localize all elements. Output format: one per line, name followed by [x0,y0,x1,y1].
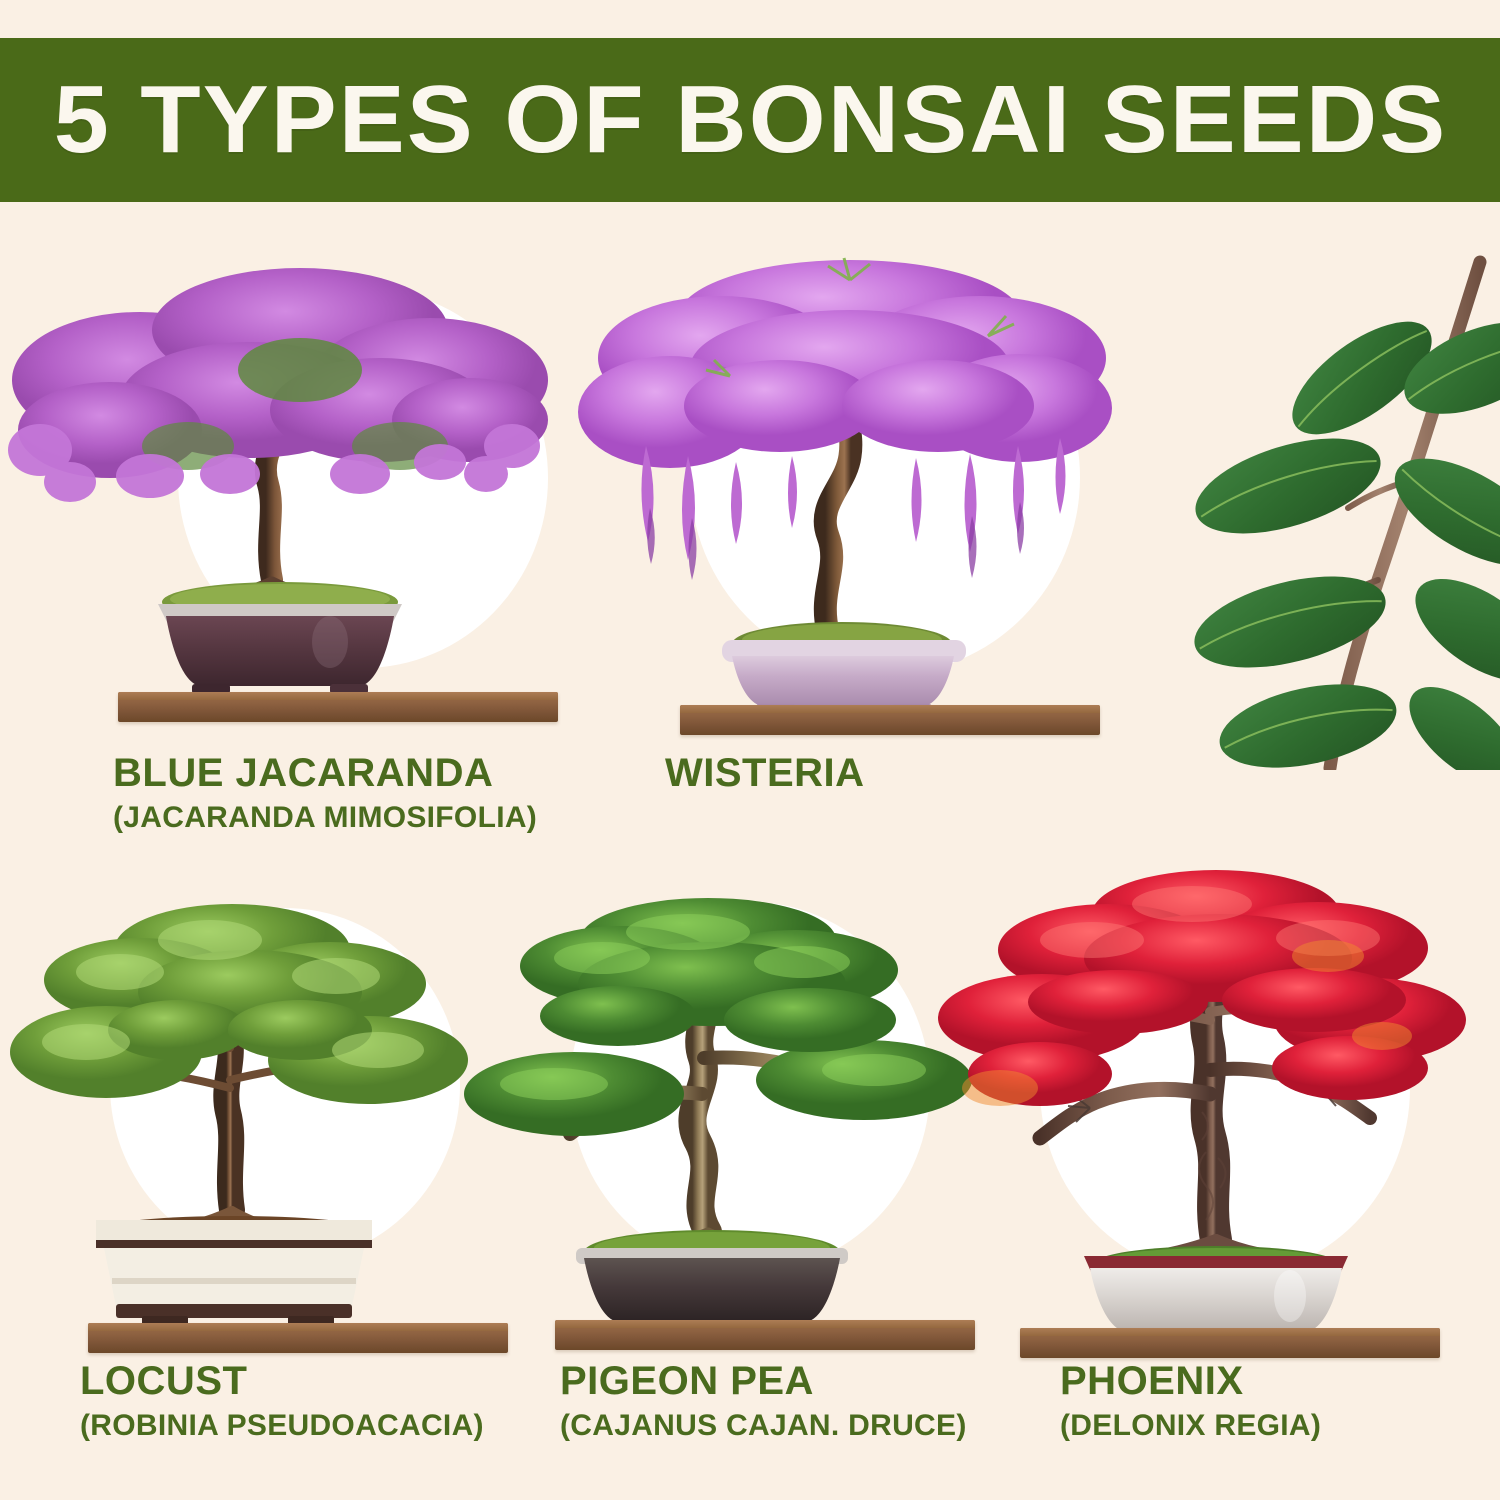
bonsai-scene [0,880,520,1350]
bonsai-scene [0,250,600,720]
label-wisteria: WISTERIA [665,752,865,799]
scientific-name: (DELONIX REGIA) [1060,1407,1321,1445]
label-blue-jacaranda: BLUE JACARANDA (JACARANDA MIMOSIFOLIA) [113,752,537,837]
bonsai-scene [930,840,1470,1350]
bonsai-scene [550,250,1150,720]
bonsai-card-blue-jacaranda [0,250,600,720]
bonsai-scene [450,880,990,1350]
common-name: LOCUST [80,1360,484,1403]
common-name: PHOENIX [1060,1360,1321,1403]
scientific-name: (JACARANDA MIMOSIFOLIA) [113,799,537,837]
bonsai-card-phoenix [930,840,1470,1350]
common-name: PIGEON PEA [560,1360,967,1403]
common-name: WISTERIA [665,752,865,795]
bonsai-card-locust [0,880,520,1350]
label-phoenix: PHOENIX (DELONIX REGIA) [1060,1360,1321,1445]
bonsai-card-pigeon-pea [450,880,990,1350]
wooden-shelf [680,705,1100,735]
label-locust: LOCUST (ROBINIA PSEUDOACACIA) [80,1360,484,1445]
scientific-name: (CAJANUS CAJAN. DRUCE) [560,1407,967,1445]
leaf-branch-decoration [1180,250,1500,770]
header-banner: 5 TYPES OF BONSAI SEEDS [0,38,1500,202]
page-title: 5 TYPES OF BONSAI SEEDS [53,72,1447,168]
wooden-shelf [88,1323,508,1353]
wooden-shelf [555,1320,975,1350]
scientific-name: (ROBINIA PSEUDOACACIA) [80,1407,484,1445]
bonsai-card-wisteria [550,250,1150,720]
poster-root: 5 TYPES OF BONSAI SEEDS [0,0,1500,1500]
common-name: BLUE JACARANDA [113,752,537,795]
label-pigeon-pea: PIGEON PEA (CAJANUS CAJAN. DRUCE) [560,1360,967,1445]
wooden-shelf [118,692,558,722]
wooden-shelf [1020,1328,1440,1358]
